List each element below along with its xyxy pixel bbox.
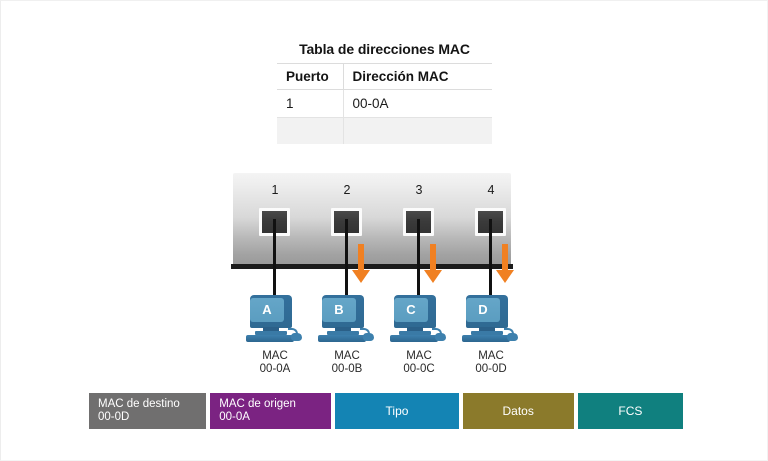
frame-field-fcs: FCS (578, 393, 683, 429)
flood-arrow-shaft-port-2 (358, 244, 364, 272)
mac-address-table: Tabla de direcciones MAC Puerto Direcció… (277, 36, 492, 144)
frame-field-destination-mac: MAC de destino 00-0D (89, 393, 206, 429)
flood-arrow-head-port-3 (424, 270, 442, 283)
switch-port-number-2: 2 (335, 183, 359, 197)
switch-port-number-1: 1 (263, 183, 287, 197)
keyboard-icon (246, 335, 294, 342)
mouse-icon (435, 333, 446, 341)
diagram-canvas: Tabla de direcciones MAC Puerto Direcció… (0, 0, 768, 461)
host-label-d: D (466, 298, 500, 322)
flood-arrow-shaft-port-4 (502, 244, 508, 272)
host-pc-d: D (462, 295, 520, 343)
keyboard-icon (318, 335, 366, 342)
host-mac-label-d-line1: MAC (446, 350, 536, 363)
mouse-icon (363, 333, 374, 341)
cable-port-1 (273, 219, 276, 297)
cable-port-2 (345, 219, 348, 297)
switch-port-number-3: 3 (407, 183, 431, 197)
mac-table-cell-port-empty (277, 118, 343, 144)
host-pc-a: A (246, 295, 304, 343)
frame-field-source-mac: MAC de origen 00-0A (210, 393, 331, 429)
mac-table-header-port: Puerto (277, 64, 343, 90)
mouse-icon (507, 333, 518, 341)
frame-field-source-mac-title: MAC de origen (219, 398, 296, 412)
flood-arrow-shaft-port-3 (430, 244, 436, 272)
host-pc-c: C (390, 295, 448, 343)
keyboard-icon (462, 335, 510, 342)
mac-table-title: Tabla de direcciones MAC (277, 36, 492, 64)
host-pc-b: B (318, 295, 376, 343)
frame-field-destination-mac-value: 00-0D (98, 411, 129, 425)
table-row-empty (277, 118, 492, 144)
host-mac-label-d: MAC 00-0D (446, 350, 536, 376)
mac-table-header-row: Puerto Dirección MAC (277, 64, 492, 90)
flood-arrow-head-port-2 (352, 270, 370, 283)
mouse-icon (291, 333, 302, 341)
mac-table-title-row: Tabla de direcciones MAC (277, 36, 492, 64)
host-mac-label-d-line2: 00-0D (446, 363, 536, 376)
table-row: 1 00-0A (277, 90, 492, 118)
switch-port-number-4: 4 (479, 183, 503, 197)
host-label-a: A (250, 298, 284, 322)
cable-port-4 (489, 219, 492, 297)
ethernet-frame-bar: MAC de destino 00-0D MAC de origen 00-0A… (89, 393, 683, 429)
frame-field-destination-mac-title: MAC de destino (98, 398, 180, 412)
cable-port-3 (417, 219, 420, 297)
host-label-c: C (394, 298, 428, 322)
frame-field-data: Datos (463, 393, 574, 429)
frame-field-source-mac-value: 00-0A (219, 411, 250, 425)
mac-table-cell-port: 1 (277, 90, 343, 118)
flood-arrow-head-port-4 (496, 270, 514, 283)
mac-table-cell-address-empty (343, 118, 492, 144)
keyboard-icon (390, 335, 438, 342)
frame-field-type: Tipo (335, 393, 458, 429)
mac-table-header-address: Dirección MAC (343, 64, 492, 90)
mac-table-cell-address: 00-0A (343, 90, 492, 118)
host-label-b: B (322, 298, 356, 322)
